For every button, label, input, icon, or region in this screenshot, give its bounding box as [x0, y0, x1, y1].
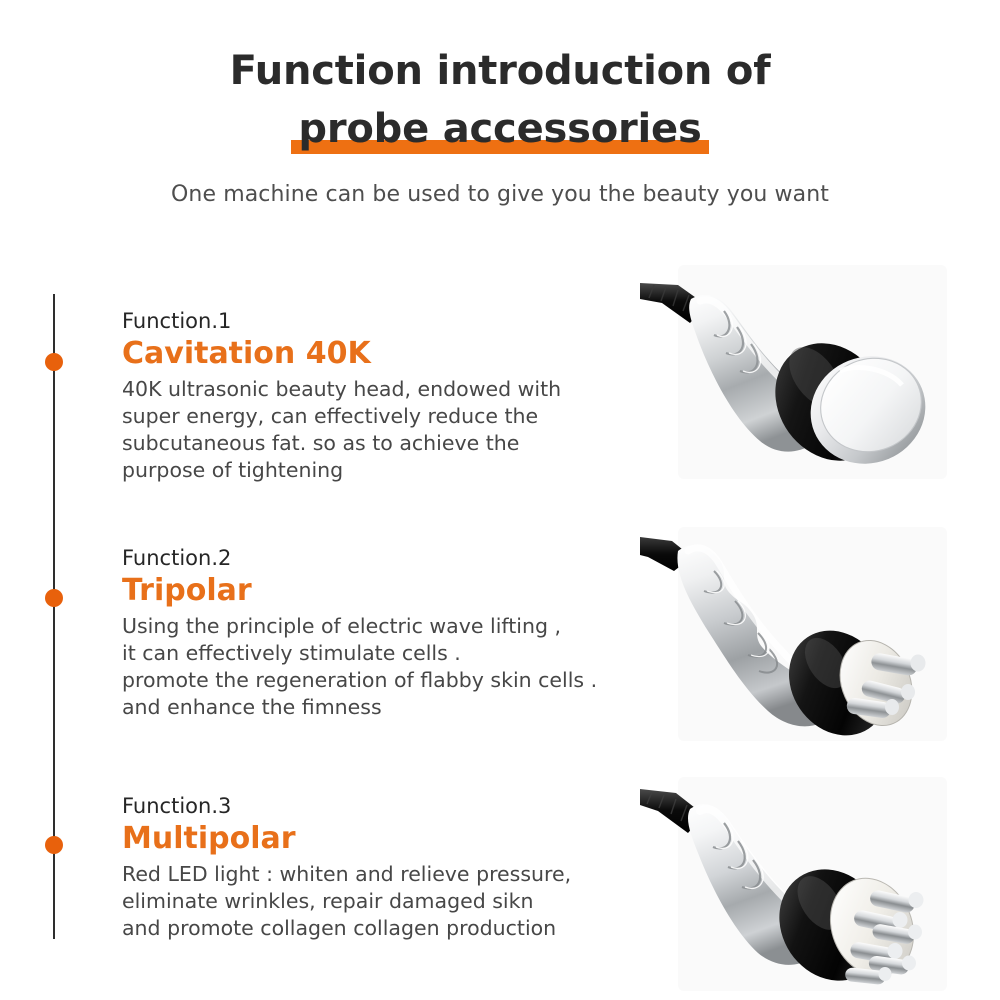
function-name-3: Multipolar	[122, 821, 667, 857]
function-block-3: Function.3 Multipolar Red LED light : wh…	[122, 793, 667, 942]
function-block-2: Function.2 Tripolar Using the principle …	[122, 545, 667, 721]
page-title-line-2-wrap: probe accessories	[294, 102, 705, 156]
description-line: and promote collagen collagen production	[122, 915, 667, 942]
description-line: and enhance the fimness	[122, 694, 667, 721]
cavitation-40k-probe-icon	[640, 265, 947, 479]
description-line: 40K ultrasonic beauty head, endowed with	[122, 376, 667, 403]
tripolar-rf-probe-icon	[640, 527, 947, 741]
product-image-card-2	[678, 527, 947, 741]
function-description-3: Red LED light : whiten and relieve press…	[122, 861, 667, 942]
function-name-1: Cavitation 40K	[122, 336, 667, 372]
description-line: eliminate wrinkles, repair damaged sikn	[122, 888, 667, 915]
product-image-card-1	[678, 265, 947, 479]
page-title: Function introduction of probe accessori…	[0, 44, 1000, 156]
page-subtitle: One machine can be used to give you the …	[0, 182, 1000, 207]
description-line: purpose of tightening	[122, 457, 667, 484]
function-index-label-1: Function.1	[122, 308, 667, 335]
timeline-dot-function-3	[45, 836, 63, 854]
function-index-label-2: Function.2	[122, 545, 667, 572]
function-block-1: Function.1 Cavitation 40K 40K ultrasonic…	[122, 308, 667, 484]
header: Function introduction of probe accessori…	[0, 0, 1000, 240]
function-index-label-3: Function.3	[122, 793, 667, 820]
function-description-1: 40K ultrasonic beauty head, endowed with…	[122, 376, 667, 484]
product-image-card-3	[678, 777, 947, 991]
function-name-2: Tripolar	[122, 573, 667, 609]
multipolar-rf-probe-icon	[640, 777, 947, 991]
function-description-2: Using the principle of electric wave lif…	[122, 613, 667, 721]
page-title-line-1: Function introduction of	[0, 44, 1000, 98]
description-line: it can effectively stimulate cells .	[122, 640, 667, 667]
timeline-dot-function-1	[45, 353, 63, 371]
description-line: super energy, can effectively reduce the	[122, 403, 667, 430]
description-line: subcutaneous fat. so as to achieve the	[122, 430, 667, 457]
description-line: Using the principle of electric wave lif…	[122, 613, 667, 640]
description-line: promote the regeneration of flabby skin …	[122, 667, 667, 694]
page-title-line-2: probe accessories	[298, 106, 701, 152]
description-line: Red LED light : whiten and relieve press…	[122, 861, 667, 888]
timeline-dot-function-2	[45, 589, 63, 607]
